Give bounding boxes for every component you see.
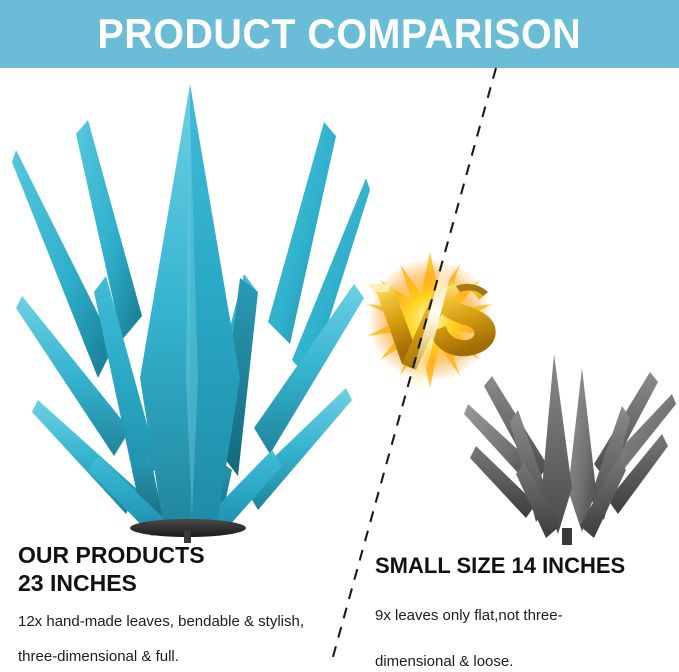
right-description-line-1: 9x leaves only flat,not three- (375, 606, 670, 626)
right-heading-line-1: SMALL SIZE 14 INCHES (375, 553, 670, 580)
left-caption-block: OUR PRODUCTS 23 INCHES 12x hand-made lea… (18, 541, 348, 667)
header-banner: PRODUCT COMPARISON (0, 0, 679, 68)
blue-agave-plant-icon (2, 78, 370, 543)
right-description-line-2: dimensional & loose. (375, 652, 670, 672)
left-heading-line-1: OUR PRODUCTS (18, 541, 348, 569)
vs-badge (352, 252, 508, 388)
vs-starburst-icon (352, 252, 508, 388)
left-description-line-2: three-dimensional & full. (18, 647, 348, 667)
page-title: PRODUCT COMPARISON (98, 13, 582, 55)
left-product-image (2, 78, 370, 543)
left-heading-line-2: 23 INCHES (18, 569, 348, 597)
right-caption-block: SMALL SIZE 14 INCHES 9x leaves only flat… (375, 553, 670, 672)
left-description-line-1: 12x hand-made leaves, bendable & stylish… (18, 612, 348, 632)
